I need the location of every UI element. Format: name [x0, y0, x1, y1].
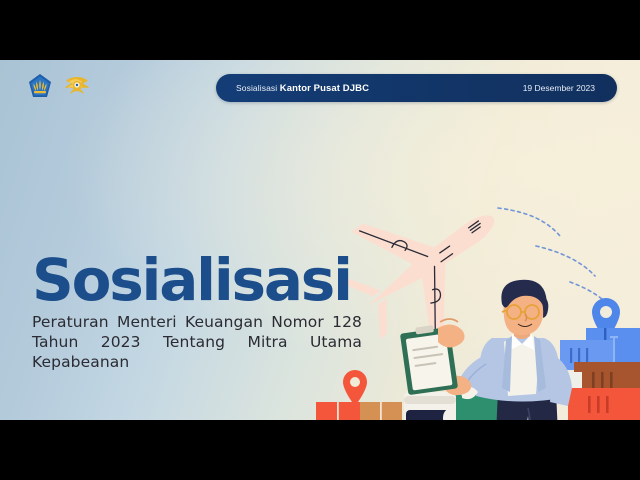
- page-title: Sosialisasi: [32, 256, 362, 306]
- session-banner-label: Sosialisasi Kantor Pusat DJBC: [236, 83, 369, 94]
- page-subtitle: Peraturan Menteri Keuangan Nomor 128 Tah…: [32, 312, 362, 372]
- red-map-pin-icon: [343, 370, 367, 406]
- session-date: 19 Desember 2023: [523, 83, 595, 93]
- presentation-slide: Sosialisasi Peraturan Menteri Keuangan N…: [0, 60, 640, 420]
- session-org: Kantor Pusat DJBC: [280, 83, 369, 94]
- headline-block: Sosialisasi Peraturan Menteri Keuangan N…: [32, 256, 362, 372]
- letterbox-top: [0, 0, 640, 60]
- cardboard-boxes: [302, 402, 408, 420]
- session-prefix: Sosialisasi: [236, 83, 277, 93]
- kemenkeu-logo: [26, 72, 54, 100]
- letterbox-bottom: [0, 420, 640, 480]
- session-banner: Sosialisasi Kantor Pusat DJBC 19 Desembe…: [216, 74, 617, 102]
- djbc-logo: [63, 72, 91, 100]
- logo-group: [26, 72, 91, 100]
- video-player-frame: Sosialisasi Peraturan Menteri Keuangan N…: [0, 0, 640, 480]
